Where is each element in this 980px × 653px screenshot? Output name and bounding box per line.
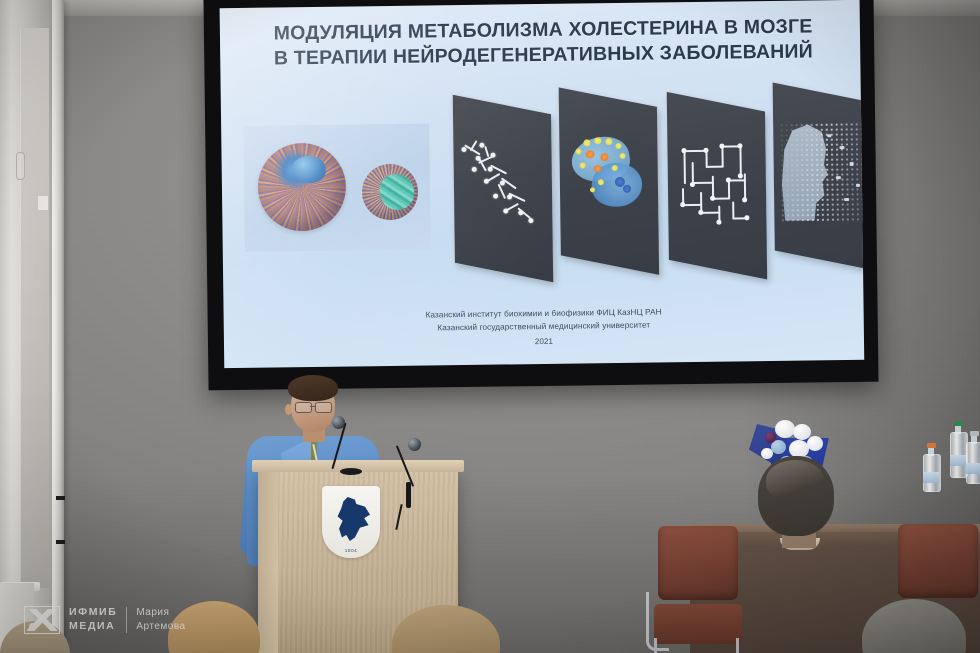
presentation-slide: МОДУЛЯЦИЯ МЕТАБОЛИЗМА ХОЛЕСТЕРИНА В МОЗГ… — [220, 0, 865, 368]
lipoprotein-small-core — [376, 170, 418, 213]
door-latch — [38, 196, 48, 210]
molecule-diagram — [459, 138, 546, 235]
slide-year: 2021 — [224, 330, 864, 353]
microphone-head-icon-2 — [408, 438, 421, 451]
slide-title-line-2: В ТЕРАПИИ НЕЙРОДЕГЕНЕРАТИВНЫХ ЗАБОЛЕВАНИ… — [246, 39, 841, 72]
chair-armrest — [646, 592, 669, 651]
panel-circuit-brain — [667, 92, 767, 280]
panel-dissolving-head — [773, 83, 865, 271]
watermark-brand-line-1: ИФМИБ — [69, 606, 117, 620]
ifmib-logo-icon — [24, 606, 60, 634]
bottle-cap-grey — [970, 431, 979, 436]
door-hinge-upper — [56, 496, 65, 500]
chair-backrest-2 — [898, 524, 978, 598]
watermark-brand-line-2: МЕДИА — [69, 620, 117, 634]
circuit-brain-image — [673, 135, 762, 228]
slide-image-row — [221, 104, 863, 287]
dissolving-head-image — [777, 118, 864, 231]
pet-brain-image — [567, 135, 652, 216]
slide-title: МОДУЛЯЦИЯ МЕТАБОЛИЗМА ХОЛЕСТЕРИНА В МОЗГ… — [245, 14, 841, 72]
microphone-base — [340, 468, 362, 475]
dragon-icon — [334, 497, 370, 541]
lipoprotein-large — [257, 143, 346, 232]
media-watermark: ИФМИБ МЕДИА Мария Артемова — [24, 603, 186, 637]
panel-lipoprotein-particles — [243, 123, 431, 251]
watermark-divider — [126, 607, 127, 633]
watermark-author-line-1: Мария — [136, 606, 185, 620]
panel-cholesterol-molecule — [453, 95, 553, 283]
presentation-photo: МОДУЛЯЦИЯ МЕТАБОЛИЗМА ХОЛЕСТЕРИНА В МОЗГ… — [0, 0, 980, 653]
speaker-ear — [285, 404, 292, 415]
lipoprotein-small — [362, 164, 419, 221]
microphone-head-icon — [332, 416, 345, 429]
projection-screen: МОДУЛЯЦИЯ МЕТАБОЛИЗМА ХОЛЕСТЕРИНА В МОЗГ… — [203, 0, 878, 390]
glass-door-panel — [20, 28, 49, 588]
bottle-cap-orange — [927, 443, 936, 448]
slide-affiliation-2: Казанский государственный медицинский ун… — [437, 321, 650, 333]
bottle-cap-green — [954, 421, 963, 426]
microphone-right[interactable] — [372, 428, 472, 520]
door-frame-edge — [52, 0, 64, 653]
eyeglasses-icon — [295, 402, 334, 412]
watermark-author: Мария Артемова — [136, 606, 185, 634]
attendee-hair-highlight — [766, 460, 824, 500]
speaker-hair — [288, 375, 338, 401]
podium-side-panel — [258, 472, 278, 653]
head-particles — [779, 122, 864, 223]
panel-pet-brain-scan — [559, 87, 659, 275]
watermark-author-line-2: Артемова — [136, 620, 185, 634]
slide-footer: Казанский институт биохимии и биофизики … — [224, 303, 864, 353]
slide-affiliation-1: Казанский институт биохимии и биофизики … — [426, 307, 662, 319]
lipoprotein-core — [292, 156, 326, 183]
crest-year-label: 1804 — [322, 548, 380, 553]
door-hinge-lower — [56, 540, 65, 544]
watermark-brand: ИФМИБ МЕДИА — [69, 606, 117, 634]
door-handle[interactable] — [16, 152, 25, 180]
